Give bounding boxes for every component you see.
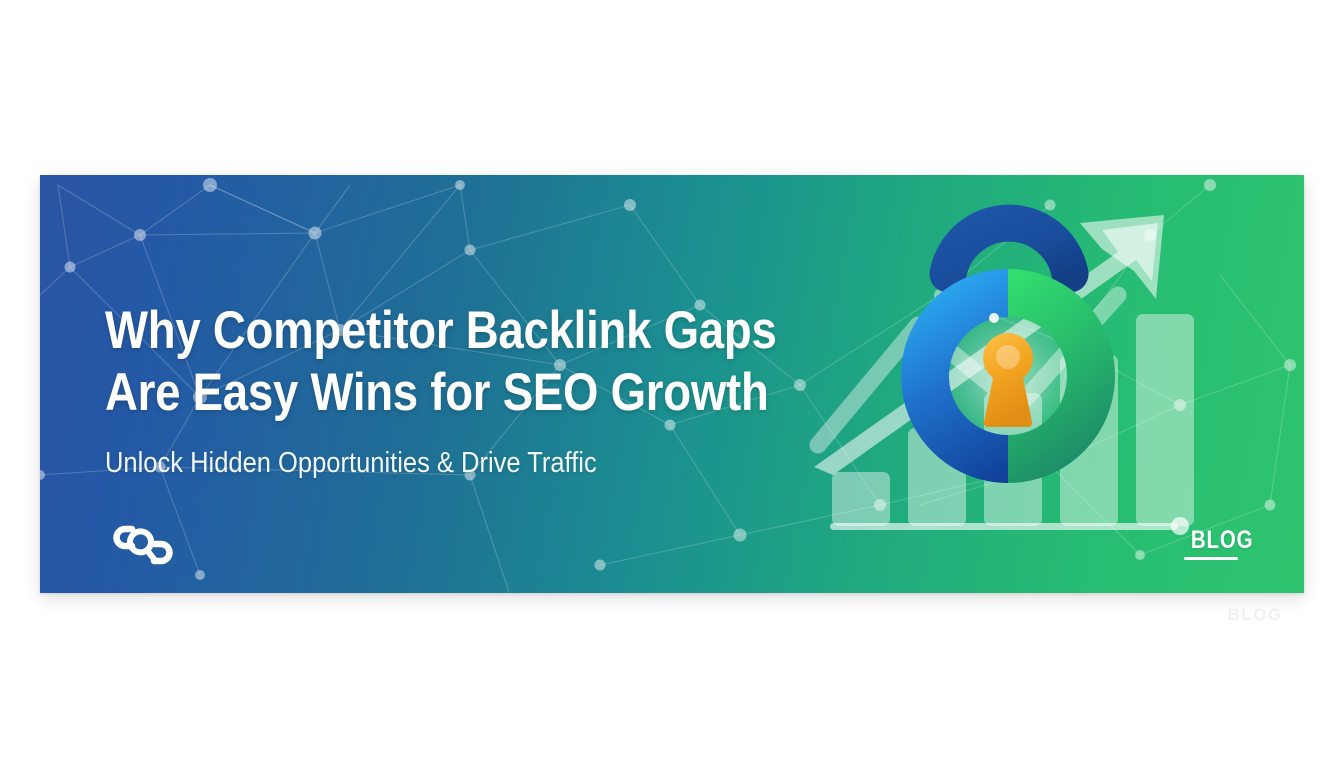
- category-tag-underline: [1184, 557, 1238, 560]
- page-canvas: BLOG: [0, 0, 1344, 768]
- page-subtitle: Unlock Hidden Opportunities & Drive Traf…: [105, 446, 747, 480]
- headline-line-1: Why Competitor Backlink Gaps: [105, 301, 777, 360]
- banner-text-block: Why Competitor Backlink Gaps Are Easy Wi…: [105, 300, 835, 480]
- blog-hero-banner: Why Competitor Backlink Gaps Are Easy Wi…: [40, 175, 1304, 593]
- category-tag-label: BLOG: [1191, 526, 1253, 555]
- ghost-blog-artifact: BLOG: [1227, 605, 1282, 625]
- headline-line-2: Are Easy Wins for SEO Growth: [105, 362, 733, 424]
- backlink-magnifier-icon[interactable]: [112, 515, 174, 575]
- category-tag[interactable]: BLOG: [1184, 526, 1260, 560]
- page-title: Why Competitor Backlink Gaps Are Easy Wi…: [105, 300, 733, 424]
